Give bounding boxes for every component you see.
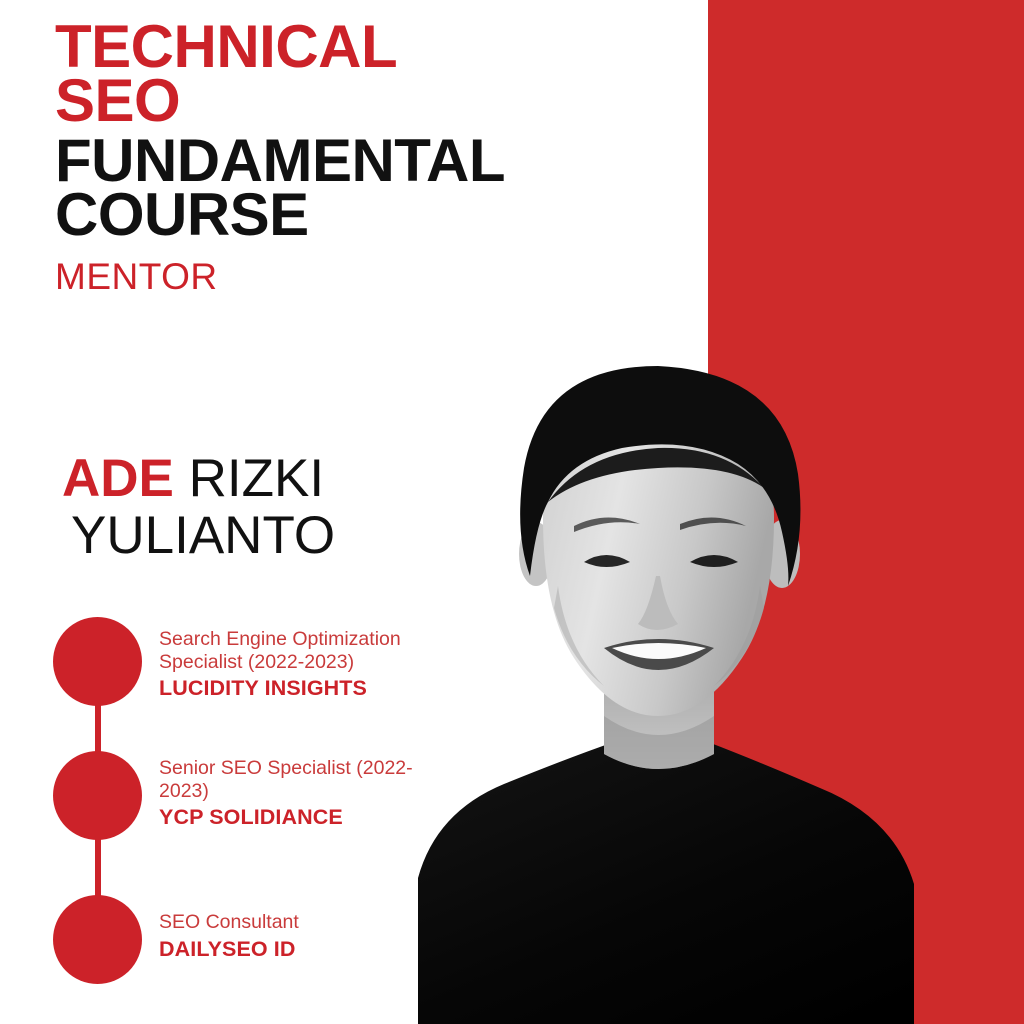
timeline-bullet-1 [53, 617, 142, 706]
mentor-portrait-photo [408, 318, 1008, 1024]
timeline-bullet-3 [53, 895, 142, 984]
portrait-artwork [408, 318, 1008, 1024]
mentor-poster: TECHNICAL SEO FUNDAMENTAL COURSE MENTOR … [0, 0, 1024, 1024]
portrait-tshirt [418, 742, 914, 1024]
timeline-bullet-2 [53, 751, 142, 840]
